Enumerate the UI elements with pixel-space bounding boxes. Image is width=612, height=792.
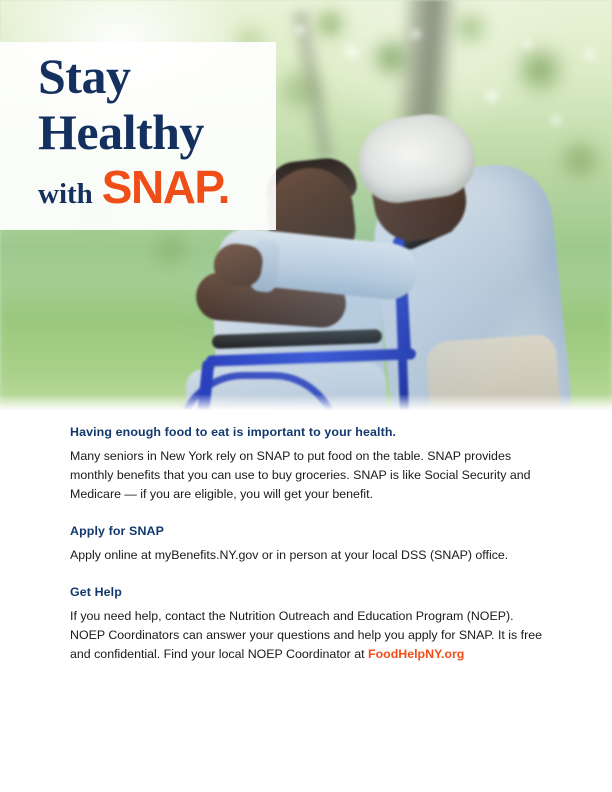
foodhelpny-link[interactable]: FoodHelpNY.org xyxy=(368,647,464,661)
section-body-apply: Apply online at myBenefits.NY.gov or in … xyxy=(70,546,548,565)
section-heading-apply: Apply for SNAP xyxy=(70,523,548,539)
get-help-text: If you need help, contact the Nutrition … xyxy=(70,609,542,661)
headline-snap-word: SNAP. xyxy=(102,164,229,210)
spacer xyxy=(70,504,548,523)
section-heading-health: Having enough food to eat is important t… xyxy=(70,424,548,440)
headline-text-group: Stay Healthy with SNAP. xyxy=(38,48,278,210)
photo-bottom-fade xyxy=(0,394,612,412)
headline-panel: Stay Healthy with SNAP. xyxy=(0,42,276,230)
footer: HUNGER SOLUTIONS NEW YORK UNITING POLICI… xyxy=(0,700,612,792)
headline-line-3: with SNAP. xyxy=(38,164,278,210)
headline-with-word: with xyxy=(38,178,93,210)
headline-line-1: Stay xyxy=(38,48,278,104)
section-body-health: Many seniors in New York rely on SNAP to… xyxy=(70,447,548,504)
body-content: Having enough food to eat is important t… xyxy=(70,424,548,664)
section-heading-get-help: Get Help xyxy=(70,584,548,600)
headline-line-2: Healthy xyxy=(38,104,278,160)
flyer-page: Stay Healthy with SNAP. Having enough fo… xyxy=(0,0,612,792)
section-body-get-help: If you need help, contact the Nutrition … xyxy=(70,607,548,664)
spacer xyxy=(70,565,548,584)
